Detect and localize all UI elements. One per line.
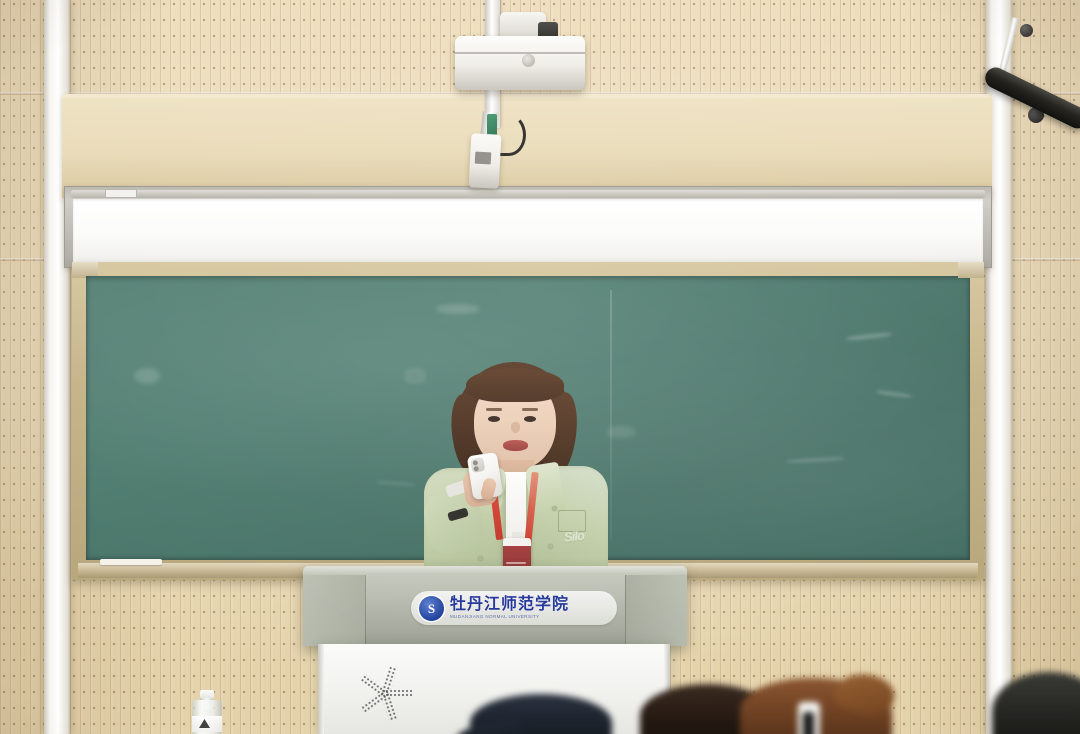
student-presenter: Silo	[418, 360, 608, 575]
university-name-cn: 牡丹江师范学院	[450, 597, 569, 613]
hair-clip-inner	[803, 712, 814, 734]
board-header-trim	[62, 94, 992, 198]
projector-seam	[455, 52, 585, 54]
lectern-side-left	[303, 575, 365, 646]
water-bottle	[192, 690, 222, 734]
presenter-eye-left	[488, 416, 500, 422]
presenter-eye-right	[524, 416, 536, 422]
camera-label	[475, 152, 492, 165]
lectern-top: S 牡丹江师范学院 MUDANJIANG NORMAL UNIVERSITY	[303, 566, 687, 646]
lectern-body-edge-left	[318, 644, 324, 734]
emblem-letter: S	[428, 602, 435, 615]
university-logo-text: 牡丹江师范学院 MUDANJIANG NORMAL UNIVERSITY	[450, 597, 569, 620]
phone-camera-icon	[470, 457, 485, 473]
presenter-nose	[511, 422, 520, 433]
microphone-boom-pivot	[1020, 24, 1033, 37]
lectern-top-edge	[303, 566, 687, 575]
chalk-eraser	[100, 559, 162, 565]
presenter-mouth	[503, 440, 528, 451]
speaker-grille-icon	[354, 658, 416, 720]
university-emblem-icon: S	[419, 596, 444, 621]
screen-tab	[105, 189, 137, 198]
screen-roller	[71, 190, 985, 198]
university-name-en: MUDANJIANG NORMAL UNIVERSITY	[450, 615, 569, 620]
ceiling-projector	[455, 36, 585, 90]
hair-clip	[798, 702, 820, 734]
lectern-side-right	[625, 575, 687, 646]
projector-lens-icon	[522, 54, 535, 67]
projection-screen-housing	[64, 186, 992, 268]
classroom-photo: Silo S 牡丹江师范学院 MUDANJIANG NORMAL UNIVERS…	[0, 0, 1080, 734]
presenter-bangs	[466, 368, 564, 402]
university-logo-plate: S 牡丹江师范学院 MUDANJIANG NORMAL UNIVERSITY	[411, 591, 617, 625]
student-brown-hair-clip	[740, 678, 892, 734]
projection-screen-surface	[73, 199, 983, 263]
